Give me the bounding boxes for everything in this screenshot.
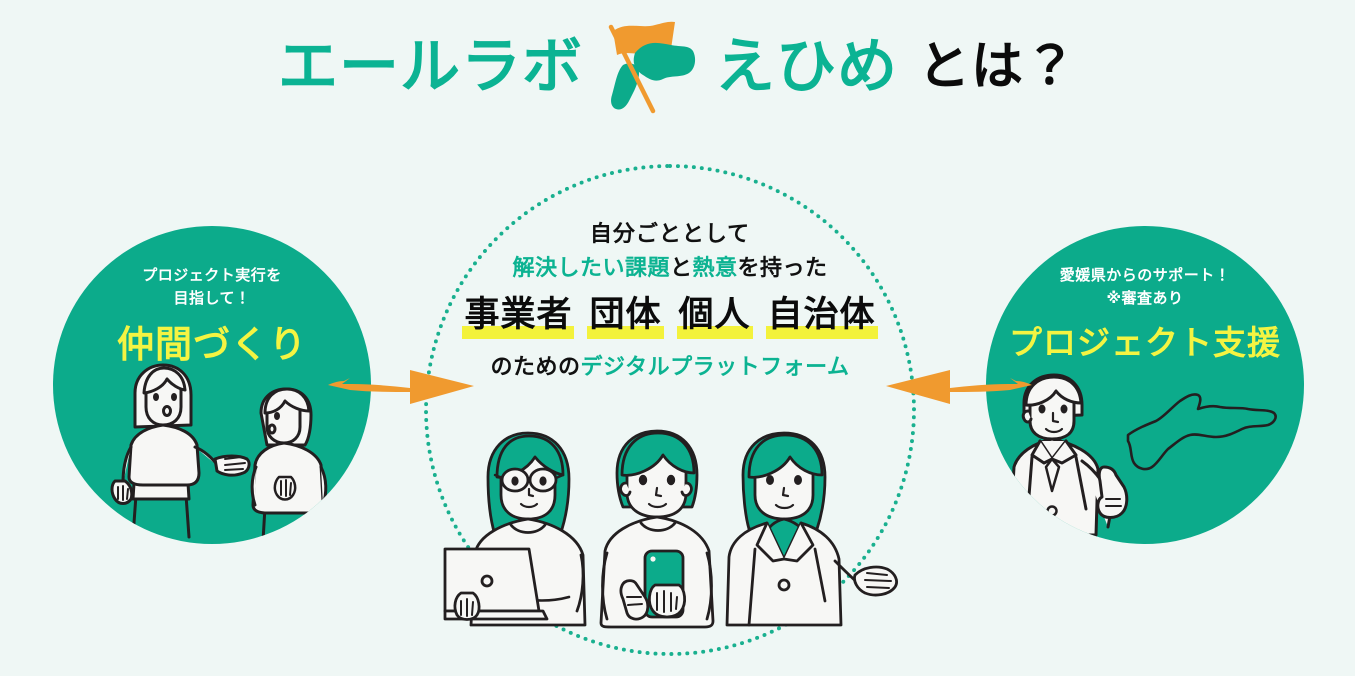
center-text-block: 自分ごととして 解決したい課題と熱意を持った 事業者 団体 個人 自治体 のため… <box>420 218 920 384</box>
arrow-right-hand-drawn <box>322 354 482 416</box>
page-title: エールラボ えひめ とは？ <box>0 22 1355 112</box>
left-circle-caption: プロジェクト実行を 目指して！ <box>53 264 371 309</box>
center-line-2-conj: と <box>670 256 693 281</box>
two-flags-icon <box>597 19 701 115</box>
left-circle-caption-line1: プロジェクト実行を <box>53 264 371 287</box>
center-line-2: 解決したい課題と熱意を持った <box>420 251 920 286</box>
right-circle-caption-line2: ※審査あり <box>986 287 1304 310</box>
left-circle-caption-line2: 目指して！ <box>53 287 371 310</box>
right-circle-caption-line1: 愛媛県からのサポート！ <box>986 264 1304 287</box>
three-people-illustration <box>443 425 903 630</box>
infographic-canvas: エールラボ えひめ とは？ プロジェクト実行を 目指して！ 仲間づくり <box>0 0 1355 676</box>
center-line-2-passion: 熱意 <box>693 256 738 281</box>
title-word-ehime: えひめ <box>715 37 898 97</box>
tag-individual: 個人 <box>677 298 753 339</box>
center-line-2-issue: 解決したい課題 <box>512 256 670 281</box>
center-line-4-prefix: のための <box>491 355 581 380</box>
arrow-left-hand-drawn <box>878 354 1038 416</box>
tag-municipality: 自治体 <box>766 298 878 339</box>
right-circle-caption: 愛媛県からのサポート！ ※審査あり <box>986 264 1304 309</box>
tag-business: 事業者 <box>462 298 574 339</box>
center-line-1: 自分ごととして <box>420 218 920 251</box>
center-line-2-tail: を持った <box>738 256 828 281</box>
title-word-yell-lab: エールラボ <box>278 37 583 97</box>
center-line-4-platform: デジタルプラットフォーム <box>581 355 850 380</box>
title-suffix: とは？ <box>918 41 1077 93</box>
tag-organization: 団体 <box>587 298 663 339</box>
target-audience-tags: 事業者 団体 個人 自治体 <box>420 298 920 339</box>
center-line-4: のためのデジタルプラットフォーム <box>420 353 920 384</box>
